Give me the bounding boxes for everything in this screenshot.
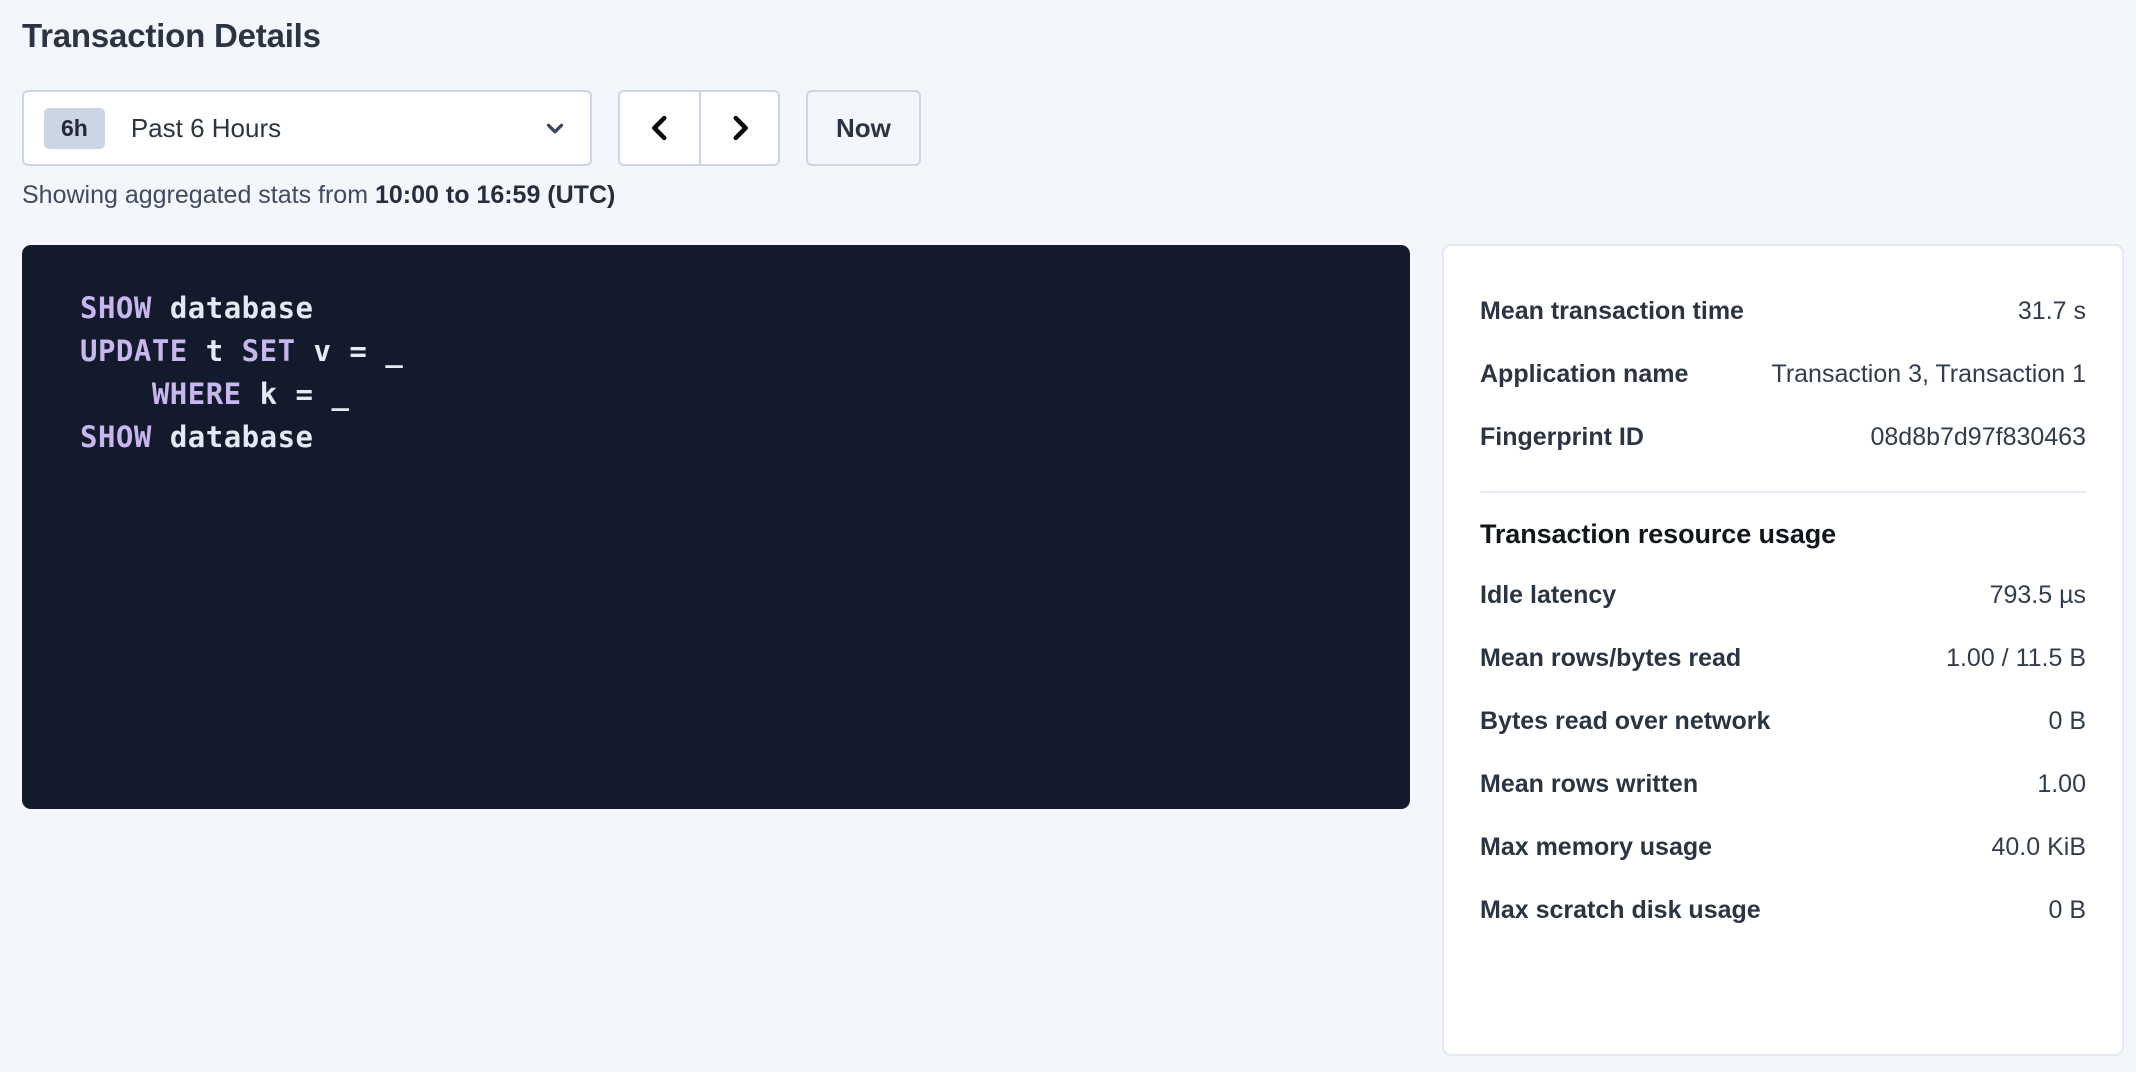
detail-row: Max memory usage40.0 KiB (1480, 816, 2086, 879)
detail-row: Idle latency793.5 µs (1480, 564, 2086, 627)
detail-row-value: 31.7 s (2018, 297, 2086, 326)
sql-code-panel[interactable]: SHOW databaseUPDATE t SET v = _ WHERE k … (22, 245, 1410, 809)
detail-row-label: Bytes read over network (1480, 707, 1770, 736)
detail-row-label: Mean rows/bytes read (1480, 644, 1741, 673)
detail-row: Mean rows written1.00 (1480, 753, 2086, 816)
detail-row-value: 40.0 KiB (1991, 833, 2086, 862)
sql-code-line: SHOW database (80, 416, 1410, 459)
detail-row: Fingerprint ID08d8b7d97f830463 (1480, 406, 2086, 469)
detail-row: Mean transaction time31.7 s (1480, 280, 2086, 343)
time-range-badge: 6h (44, 108, 105, 149)
detail-row-value: 0 B (2048, 707, 2086, 736)
resource-rows: Idle latency793.5 µsMean rows/bytes read… (1480, 564, 2086, 942)
detail-row-value: 1.00 / 11.5 B (1946, 644, 2086, 673)
sql-code-line: UPDATE t SET v = _ (80, 330, 1410, 373)
detail-row-label: Idle latency (1480, 581, 1616, 610)
range-nav-group (618, 90, 780, 166)
detail-row-label: Application name (1480, 360, 1688, 389)
now-button[interactable]: Now (806, 90, 921, 166)
sql-identifier: database (170, 291, 314, 325)
chevron-down-icon (542, 115, 568, 141)
sql-keyword: SHOW (80, 420, 152, 454)
sql-keyword: SHOW (80, 291, 152, 325)
detail-row-label: Mean transaction time (1480, 297, 1744, 326)
detail-row-value: 0 B (2048, 896, 2086, 925)
time-range-select[interactable]: 6h Past 6 Hours (22, 90, 592, 166)
next-range-button[interactable] (699, 92, 778, 164)
sql-keyword: UPDATE (80, 334, 188, 368)
summary-rows: Mean transaction time31.7 sApplication n… (1480, 280, 2086, 469)
time-range-toolbar: 6h Past 6 Hours (22, 90, 921, 166)
sql-identifier: v = _ (296, 334, 404, 368)
sql-identifier: k = _ (242, 377, 350, 411)
transaction-details-page: Transaction Details 6h Past 6 Hours (0, 0, 2136, 1072)
detail-row: Bytes read over network0 B (1480, 690, 2086, 753)
aggregated-stats-note: Showing aggregated stats from 10:00 to 1… (22, 179, 615, 211)
previous-range-button[interactable] (620, 92, 699, 164)
sql-code-body: SHOW databaseUPDATE t SET v = _ WHERE k … (22, 287, 1410, 459)
sql-keyword: WHERE (152, 377, 242, 411)
sql-identifier (152, 291, 170, 325)
detail-row-value: 1.00 (2037, 770, 2086, 799)
detail-row: Application nameTransaction 3, Transacti… (1480, 343, 2086, 406)
time-range-label: Past 6 Hours (131, 113, 542, 144)
sql-identifier: database (170, 420, 314, 454)
resource-usage-heading: Transaction resource usage (1480, 507, 2086, 564)
page-title: Transaction Details (22, 16, 321, 56)
transaction-detail-card: Mean transaction time31.7 sApplication n… (1442, 244, 2124, 1056)
sql-identifier (152, 420, 170, 454)
sql-keyword: SET (242, 334, 296, 368)
detail-row-label: Fingerprint ID (1480, 423, 1644, 452)
chevron-left-icon (643, 111, 677, 145)
sql-code-line: WHERE k = _ (80, 373, 1410, 416)
sql-identifier: t (188, 334, 242, 368)
detail-row-value: 08d8b7d97f830463 (1870, 423, 2086, 452)
detail-row-value: 793.5 µs (1990, 581, 2086, 610)
card-divider (1480, 491, 2086, 493)
detail-row: Mean rows/bytes read1.00 / 11.5 B (1480, 627, 2086, 690)
sql-identifier (80, 377, 152, 411)
detail-row-label: Mean rows written (1480, 770, 1698, 799)
aggregated-stats-range: 10:00 to 16:59 (UTC) (375, 181, 615, 209)
aggregated-stats-prefix: Showing aggregated stats from (22, 181, 375, 209)
detail-row-value: Transaction 3, Transaction 1 (1771, 360, 2086, 389)
detail-row: Max scratch disk usage0 B (1480, 879, 2086, 942)
chevron-right-icon (723, 111, 757, 145)
detail-row-label: Max memory usage (1480, 833, 1712, 862)
detail-row-label: Max scratch disk usage (1480, 896, 1761, 925)
sql-code-line: SHOW database (80, 287, 1410, 330)
